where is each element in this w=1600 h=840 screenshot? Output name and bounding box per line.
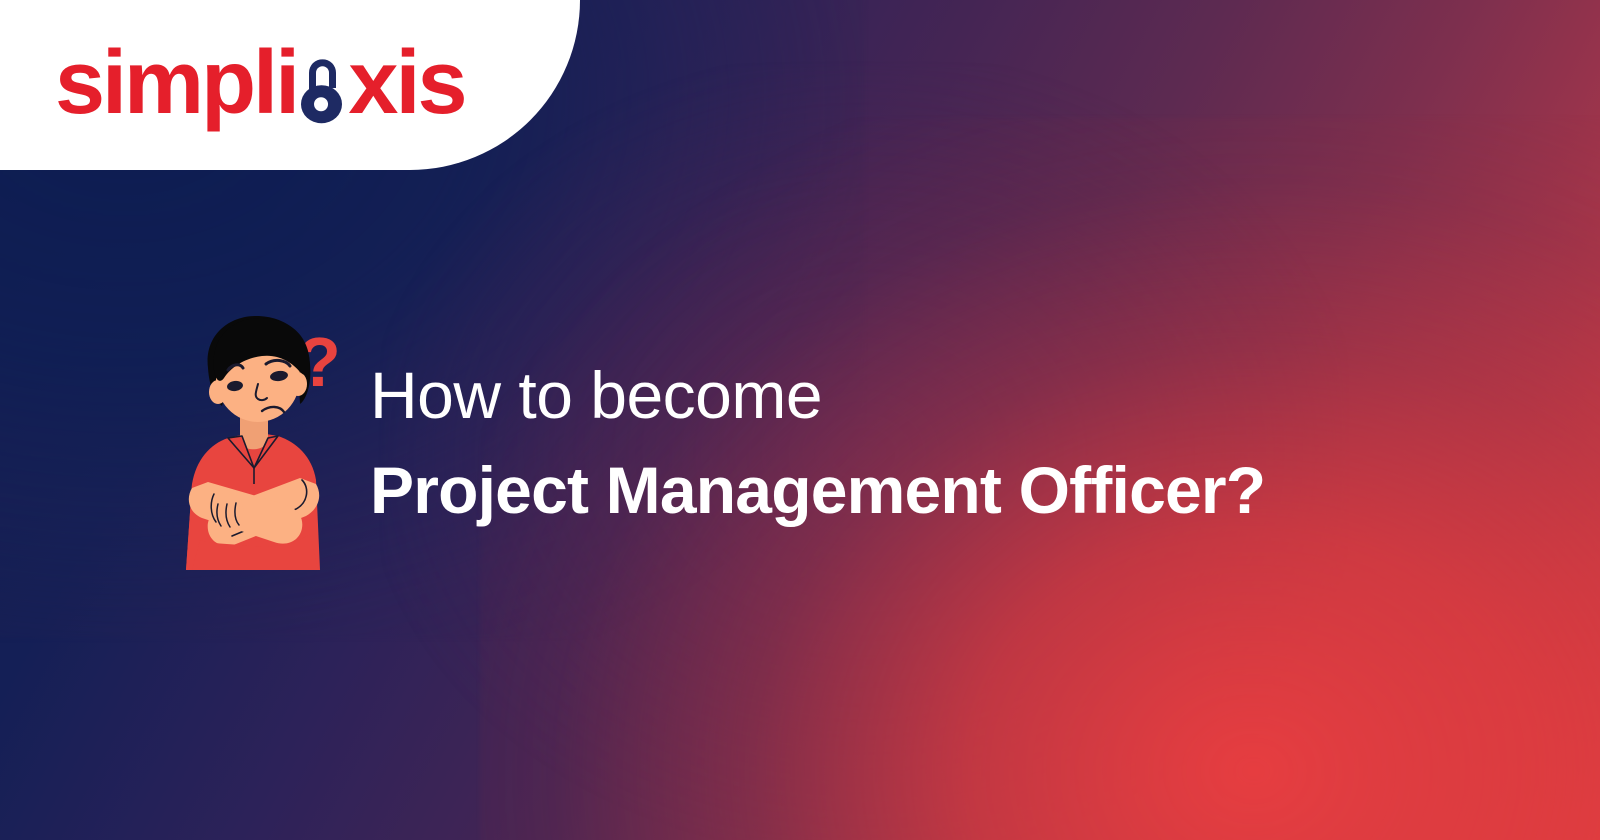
promo-banner: simplixis ? xyxy=(0,0,1600,840)
headline-line-2: Project Management Officer? xyxy=(370,457,1265,524)
brand-logo[interactable]: simplixis xyxy=(55,38,465,128)
logo-prefix-text: simpli xyxy=(55,33,297,133)
headline-block: How to become Project Management Officer… xyxy=(370,362,1265,525)
logo-suffix-text: xis xyxy=(348,33,464,133)
confused-person-illustration: ? xyxy=(170,308,370,583)
logo-plate: simplixis xyxy=(0,0,580,170)
open-lock-a-icon xyxy=(296,57,350,124)
headline-line-1: How to become xyxy=(370,362,1265,429)
